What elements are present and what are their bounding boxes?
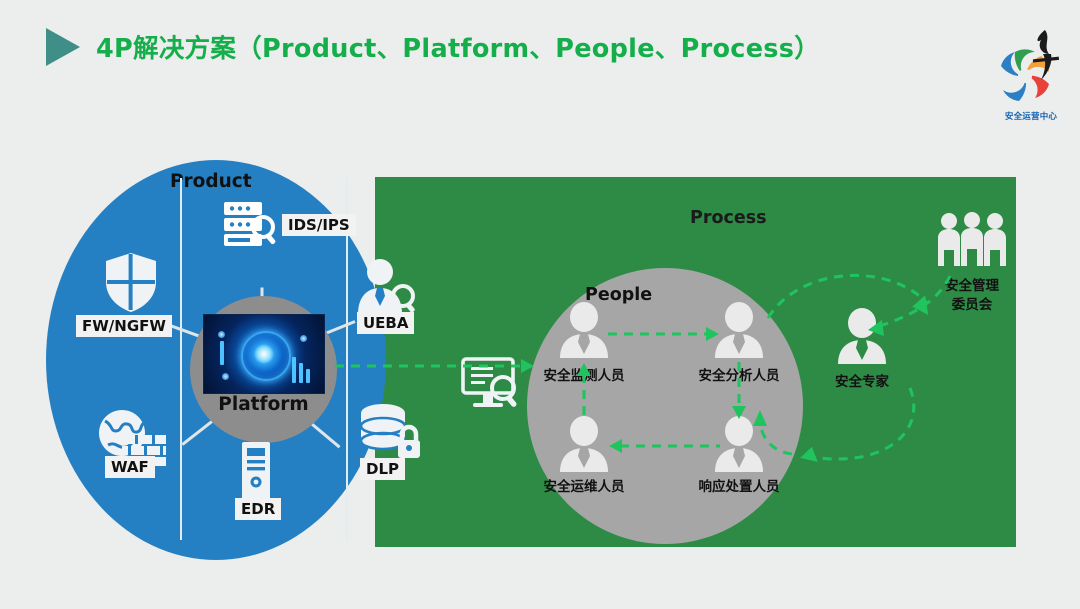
person-icon-monitor bbox=[558, 302, 610, 360]
swirl-logo-mark bbox=[985, 24, 1077, 110]
arrow-to-responder-up bbox=[740, 404, 800, 464]
arrow-platform-to-people bbox=[335, 356, 535, 376]
server-rack-search-icon bbox=[223, 201, 279, 253]
logo-caption: 安全运营中心 bbox=[985, 110, 1077, 122]
node-label-ids-ips: IDS/IPS bbox=[282, 214, 356, 236]
tech-dashboard-image bbox=[203, 314, 325, 394]
diagram-stage: Process Product Platform bbox=[0, 138, 1080, 570]
role-label-ops: 安全运维人员 bbox=[524, 475, 644, 495]
node-label-waf: WAF bbox=[105, 456, 155, 478]
person-icon-ops bbox=[558, 416, 610, 474]
shield-icon bbox=[104, 252, 158, 314]
play-triangle-icon bbox=[46, 28, 80, 66]
process-label: Process bbox=[690, 208, 767, 228]
page-title: 4P解决方案（Product、Platform、People、Process） bbox=[96, 28, 820, 65]
arrow-monitor-to-analyst bbox=[608, 326, 720, 342]
decorative-vline-left bbox=[180, 178, 182, 540]
node-label-edr: EDR bbox=[235, 498, 281, 520]
person-icon-analyst bbox=[713, 302, 765, 360]
platform-label: Platform bbox=[190, 394, 337, 415]
three-people-icon bbox=[936, 212, 1008, 268]
swirl-logo: 安全运营中心 bbox=[985, 24, 1077, 134]
person-magnifier-icon bbox=[356, 258, 420, 320]
arrow-committee-to-expert bbox=[840, 268, 960, 348]
arrow-responder-to-ops bbox=[608, 438, 720, 454]
slide-header: 4P解决方案（Product、Platform、People、Process） bbox=[0, 0, 1080, 138]
arrow-ops-to-monitor bbox=[576, 362, 592, 420]
slide-root: 4P解决方案（Product、Platform、People、Process） … bbox=[0, 0, 1080, 609]
node-label-dlp: DLP bbox=[360, 458, 405, 480]
node-label-ueba: UEBA bbox=[357, 312, 414, 334]
node-label-fw-ngfw: FW/NGFW bbox=[76, 315, 172, 337]
product-label: Product bbox=[170, 171, 252, 192]
